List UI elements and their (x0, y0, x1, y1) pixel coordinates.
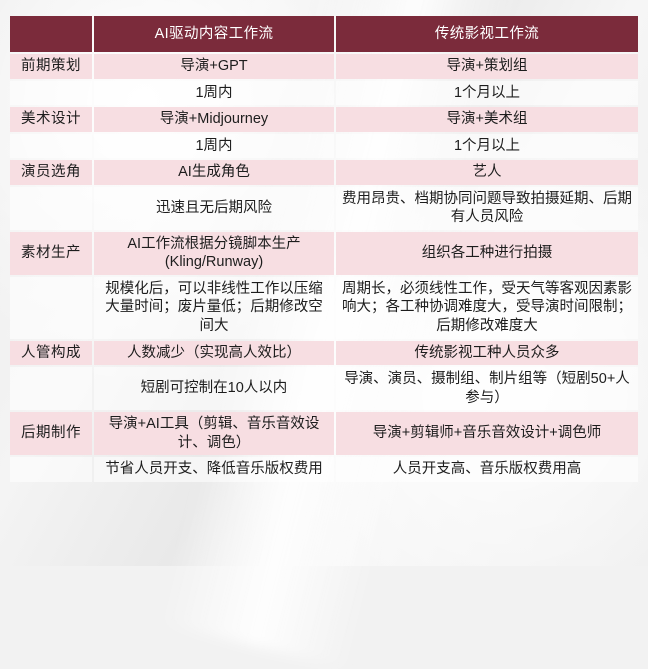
table-row: 后期制作 导演+AI工具（剪辑、音乐音效设计、调色） 导演+剪辑师+音乐音效设计… (10, 412, 638, 455)
table-row: 演员选角 AI生成角色 艺人 (10, 160, 638, 185)
cell-ai-primary-3: AI生成角色 (94, 160, 334, 185)
table-row: 人管构成 人数减少（实现高人效比） 传统影视工种人员众多 (10, 341, 638, 366)
stage-label-blank-6 (10, 457, 92, 482)
stage-label-blank-3 (10, 187, 92, 230)
cell-ai-detail-1: 1周内 (94, 81, 334, 106)
stage-label-4: 素材生产 (10, 232, 92, 275)
cell-ai-detail-5: 短剧可控制在10人以内 (94, 367, 334, 410)
stage-label-2: 美术设计 (10, 107, 92, 132)
cell-traditional-primary-6: 导演+剪辑师+音乐音效设计+调色师 (336, 412, 638, 455)
table-row: 迅速且无后期风险 费用昂贵、档期协同问题导致拍摄延期、后期有人员风险 (10, 187, 638, 230)
table-row: 美术设计 导演+Midjourney 导演+美术组 (10, 107, 638, 132)
cell-ai-detail-2: 1周内 (94, 134, 334, 159)
table-row: 前期策划 导演+GPT 导演+策划组 (10, 54, 638, 79)
cell-traditional-primary-2: 导演+美术组 (336, 107, 638, 132)
table-row: 短剧可控制在10人以内 导演、演员、摄制组、制片组等（短剧50+人参与） (10, 367, 638, 410)
cell-ai-detail-6: 节省人员开支、降低音乐版权费用 (94, 457, 334, 482)
cell-traditional-detail-1: 1个月以上 (336, 81, 638, 106)
cell-ai-detail-4: 规模化后，可以非线性工作以压缩大量时间；废片量低；后期修改空间大 (94, 277, 334, 339)
cell-ai-detail-3: 迅速且无后期风险 (94, 187, 334, 230)
table-row: 规模化后，可以非线性工作以压缩大量时间；废片量低；后期修改空间大 周期长，必须线… (10, 277, 638, 339)
stage-label-blank-2 (10, 134, 92, 159)
cell-traditional-detail-6: 人员开支高、音乐版权费用高 (336, 457, 638, 482)
table-row: 1周内 1个月以上 (10, 81, 638, 106)
cell-ai-primary-2: 导演+Midjourney (94, 107, 334, 132)
stage-label-1: 前期策划 (10, 54, 92, 79)
table-row: 1周内 1个月以上 (10, 134, 638, 159)
cell-traditional-detail-3: 费用昂贵、档期协同问题导致拍摄延期、后期有人员风险 (336, 187, 638, 230)
stage-label-blank-1 (10, 81, 92, 106)
stage-label-5: 人管构成 (10, 341, 92, 366)
cell-traditional-primary-1: 导演+策划组 (336, 54, 638, 79)
cell-ai-primary-6: 导演+AI工具（剪辑、音乐音效设计、调色） (94, 412, 334, 455)
stage-label-blank-4 (10, 277, 92, 339)
header-cell-blank (10, 16, 92, 52)
cell-traditional-primary-5: 传统影视工种人员众多 (336, 341, 638, 366)
cell-traditional-primary-4: 组织各工种进行拍摄 (336, 232, 638, 275)
table-header-row: AI驱动内容工作流 传统影视工作流 (10, 16, 638, 52)
cell-traditional-detail-5: 导演、演员、摄制组、制片组等（短剧50+人参与） (336, 367, 638, 410)
header-cell-ai-workflow: AI驱动内容工作流 (94, 16, 334, 52)
comparison-table-container: AI驱动内容工作流 传统影视工作流 前期策划 导演+GPT 导演+策划组 1周内… (8, 14, 640, 484)
cell-ai-primary-4: AI工作流根据分镜脚本生产(Kling/Runway) (94, 232, 334, 275)
table-row: 节省人员开支、降低音乐版权费用 人员开支高、音乐版权费用高 (10, 457, 638, 482)
cell-traditional-detail-2: 1个月以上 (336, 134, 638, 159)
stage-label-blank-5 (10, 367, 92, 410)
cell-traditional-primary-3: 艺人 (336, 160, 638, 185)
workflow-comparison-table: AI驱动内容工作流 传统影视工作流 前期策划 导演+GPT 导演+策划组 1周内… (8, 14, 640, 484)
table-row: 素材生产 AI工作流根据分镜脚本生产(Kling/Runway) 组织各工种进行… (10, 232, 638, 275)
cell-ai-primary-5: 人数减少（实现高人效比） (94, 341, 334, 366)
header-cell-traditional-workflow: 传统影视工作流 (336, 16, 638, 52)
cell-ai-primary-1: 导演+GPT (94, 54, 334, 79)
stage-label-6: 后期制作 (10, 412, 92, 455)
cell-traditional-detail-4: 周期长，必须线性工作，受天气等客观因素影响大；各工种协调难度大，受导演时间限制；… (336, 277, 638, 339)
stage-label-3: 演员选角 (10, 160, 92, 185)
